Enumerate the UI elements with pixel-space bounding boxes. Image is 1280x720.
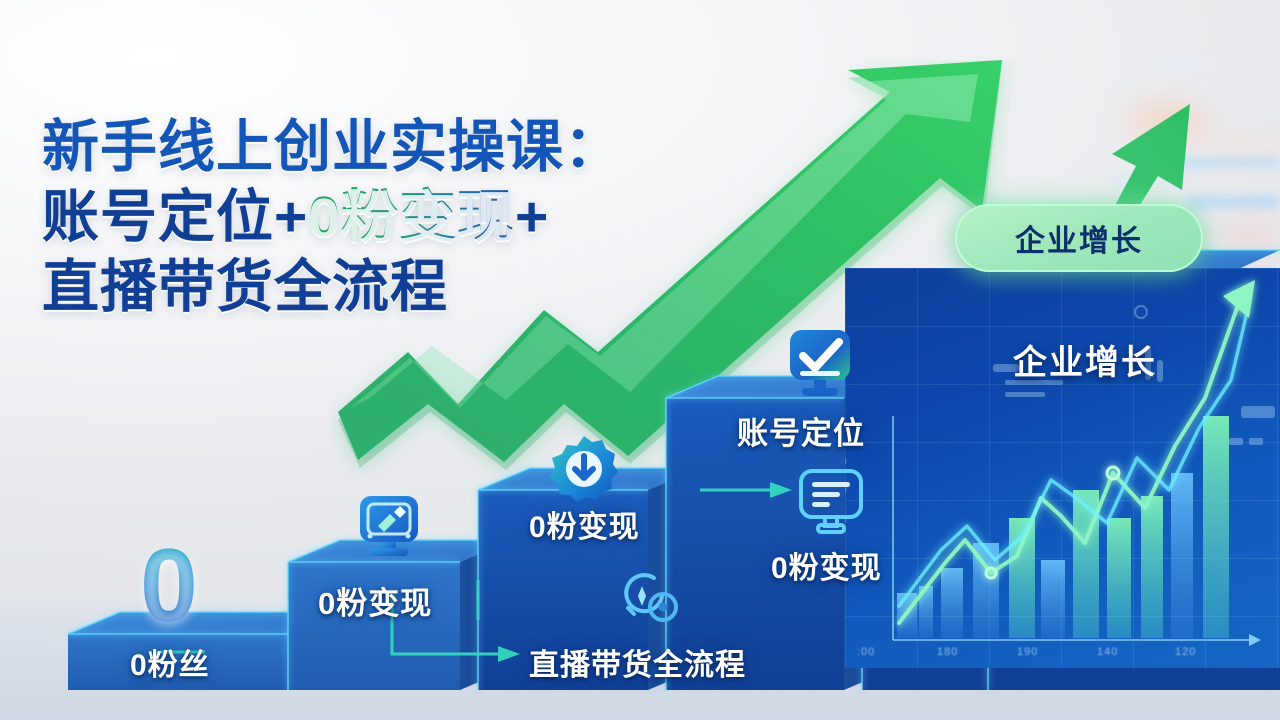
title-line-2-suffix: + — [515, 185, 549, 249]
chart-xtick-2: 190 — [1017, 646, 1038, 658]
title-line-2: 账号定位+0粉变现+ — [42, 182, 742, 252]
chart-xtick-0: :00 — [857, 646, 875, 658]
page-title: 新手线上创业实操课： 账号定位+0粉变现+ 直播带货全流程 — [42, 112, 742, 322]
step-label-5: 账号定位 — [737, 408, 865, 453]
status-badge-label: 企业增长 — [1015, 216, 1143, 260]
chart-xtick-4: 120 — [1175, 646, 1196, 658]
title-line-2-prefix: 账号定位+ — [42, 185, 308, 249]
hero-zero-number: 0 — [140, 534, 198, 638]
monitor-check-icon — [786, 326, 856, 404]
chart-xtick-1: 180 — [937, 646, 958, 658]
title-line-1: 新手线上创业实操课： — [42, 112, 742, 182]
growth-panel: 90 30 30 :00 180 190 140 120 — [845, 268, 1280, 668]
title-line-3: 直播带货全流程 — [42, 252, 742, 322]
panel-headline: 企业增长 — [1013, 335, 1157, 384]
panel-grid — [845, 268, 1280, 668]
monitor-pen-icon — [356, 492, 422, 564]
status-badge-growth[interactable]: 企业增长 — [955, 204, 1203, 272]
gear-download-icon — [548, 434, 620, 506]
step-label-6: 0粉变现 — [771, 543, 882, 587]
step-label-2: 0粉变现 — [318, 578, 432, 623]
live-lens-icon — [616, 562, 682, 628]
poster-canvas: 90 30 30 :00 180 190 140 120 企业增长 企业增长 — [0, 0, 1280, 720]
title-line-2-highlight: 0粉变现 — [308, 185, 515, 249]
step-label-3: 0粉变现 — [529, 502, 640, 546]
monitor-lines-icon — [796, 466, 866, 540]
chart-xtick-3: 140 — [1097, 646, 1118, 658]
step-label-4: 直播带货全流程 — [529, 640, 746, 684]
